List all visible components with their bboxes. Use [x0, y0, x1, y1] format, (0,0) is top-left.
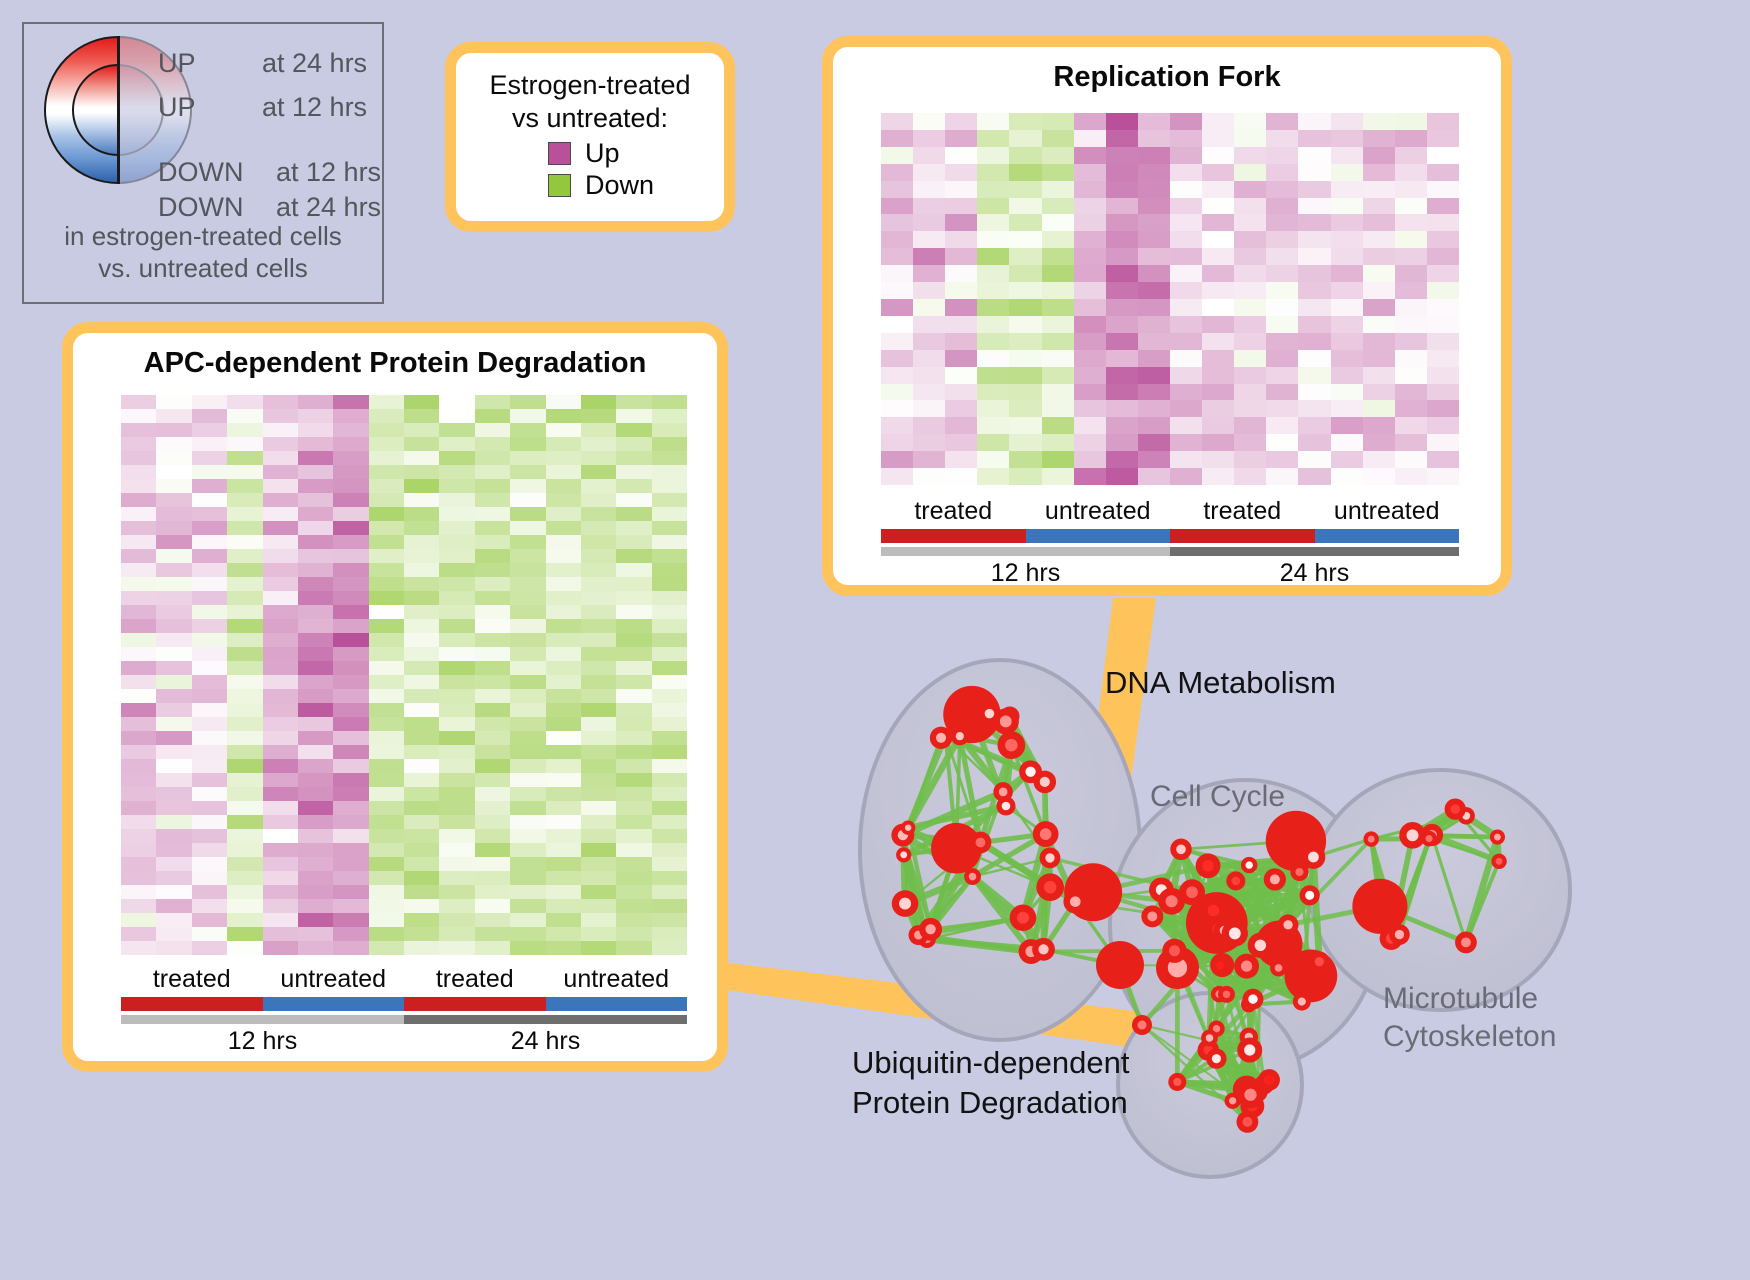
- heatmap-cell: [581, 675, 616, 689]
- heatmap-cell: [439, 423, 474, 437]
- network-node[interactable]: [1290, 863, 1308, 881]
- heatmap-cell: [1202, 400, 1234, 417]
- node-inner-core: [1245, 861, 1252, 868]
- network-node[interactable]: [1278, 914, 1299, 935]
- heatmap-cell: [1074, 164, 1106, 181]
- heatmap-cell: [1074, 434, 1106, 451]
- network-node[interactable]: [1132, 1015, 1152, 1035]
- condition-bar-0: [881, 529, 1026, 543]
- heatmap-cell: [1074, 181, 1106, 198]
- heatmap-cell: [652, 843, 687, 857]
- heatmap-cell: [1395, 316, 1427, 333]
- heatmap-cell: [945, 130, 977, 147]
- heatmap-cell: [192, 437, 227, 451]
- heatmap-cell: [1395, 147, 1427, 164]
- heatmap-cell: [263, 605, 298, 619]
- network-node[interactable]: [1445, 798, 1466, 819]
- network-node[interactable]: [1158, 888, 1185, 915]
- heatmap-cell: [1395, 282, 1427, 299]
- heatmap-cell: [546, 493, 581, 507]
- heatmap-cell: [298, 689, 333, 703]
- heatmap-cell: [1427, 333, 1459, 350]
- heatmap-cell: [121, 549, 156, 563]
- network-node[interactable]: [1218, 986, 1235, 1003]
- heatmap-cell: [1042, 468, 1074, 485]
- node-inner-core: [1044, 881, 1056, 893]
- node-inner-core: [1305, 891, 1314, 900]
- cluster-microtubule: [1310, 770, 1570, 1010]
- node-inner-core: [1166, 895, 1178, 907]
- heatmap-cell: [475, 437, 510, 451]
- heatmap-cell: [263, 759, 298, 773]
- heatmap-cell: [439, 395, 474, 409]
- condition-bar-2: [404, 997, 546, 1011]
- heatmap-cell: [1266, 350, 1298, 367]
- heatmap-cell: [1331, 113, 1363, 130]
- heatmap-cell: [546, 633, 581, 647]
- heatmap-cell: [1363, 333, 1395, 350]
- heatmap-cell: [1202, 130, 1234, 147]
- heatmap-cell: [977, 434, 1009, 451]
- heatmap-cell: [475, 857, 510, 871]
- heatmap-cell: [1202, 214, 1234, 231]
- heatmap-cell: [913, 451, 945, 468]
- heatmap-cell: [227, 479, 262, 493]
- heatmap-cell: [263, 689, 298, 703]
- heatmap-cell: [1298, 248, 1330, 265]
- heatmap-cell: [977, 248, 1009, 265]
- heatmap-cell: [581, 661, 616, 675]
- heatmap-cell: [652, 465, 687, 479]
- network-node[interactable]: [1010, 904, 1037, 931]
- heatmap-cell: [881, 417, 913, 434]
- network-node[interactable]: [1264, 868, 1286, 890]
- heatmap-cell: [1170, 265, 1202, 282]
- heatmap-cell: [510, 787, 545, 801]
- network-node[interactable]: [1201, 1030, 1218, 1047]
- network-node[interactable]: [1206, 1048, 1226, 1068]
- heatmap-cell: [475, 731, 510, 745]
- heatmap-cell: [1170, 434, 1202, 451]
- heatmap-cell: [1042, 417, 1074, 434]
- heatmap-cell: [546, 899, 581, 913]
- heatmap-cell: [1234, 113, 1266, 130]
- heatmap-cell: [1106, 198, 1138, 215]
- heatmap-cell: [652, 787, 687, 801]
- heatmap-cell: [1395, 130, 1427, 147]
- node-inner-core: [1002, 802, 1011, 811]
- heatmap-cell: [192, 675, 227, 689]
- time-bar-1: [1170, 547, 1459, 556]
- network-node[interactable]: [1389, 924, 1410, 945]
- network-node[interactable]: [1200, 897, 1226, 923]
- heatmap-cell: [616, 843, 651, 857]
- heatmap-cell: [881, 282, 913, 299]
- heatmap-cell: [439, 409, 474, 423]
- heatmap-cell: [1074, 231, 1106, 248]
- node-inner-core: [1217, 962, 1225, 970]
- heatmap-cell: [1266, 282, 1298, 299]
- network-node[interactable]: [1270, 959, 1287, 976]
- heatmap-cell: [263, 773, 298, 787]
- heatmap-cell: [369, 437, 404, 451]
- heatmap-cell: [510, 745, 545, 759]
- heatmap-cell: [1331, 367, 1363, 384]
- heatmap-cell: [298, 745, 333, 759]
- heatmap-cell: [404, 437, 439, 451]
- heatmap-cell: [581, 423, 616, 437]
- heatmap-cell: [475, 409, 510, 423]
- heatmap-cell: [1298, 434, 1330, 451]
- heatmap-cell: [439, 885, 474, 899]
- heatmap-cell: [298, 437, 333, 451]
- network-node[interactable]: [1258, 1069, 1280, 1091]
- network-node[interactable]: [970, 832, 992, 854]
- heatmap-cell: [881, 400, 913, 417]
- network-node[interactable]: [1212, 957, 1229, 974]
- heatmap-cell: [192, 787, 227, 801]
- network-node[interactable]: [1293, 993, 1311, 1011]
- heatmap-cell: [616, 689, 651, 703]
- heatmap-cell: [510, 801, 545, 815]
- network-node[interactable]: [1241, 857, 1257, 873]
- heatmap-cell: [616, 535, 651, 549]
- heatmap-cell: [616, 857, 651, 871]
- heatmap-cell: [1298, 147, 1330, 164]
- heatmap-cell: [156, 801, 191, 815]
- heatmap-cell: [192, 563, 227, 577]
- network-node[interactable]: [1490, 829, 1505, 844]
- heatmap-cell: [369, 675, 404, 689]
- network-node[interactable]: [1300, 885, 1320, 905]
- heatmap-cell: [263, 815, 298, 829]
- heatmap-cell: [652, 703, 687, 717]
- network-node[interactable]: [1236, 1111, 1258, 1133]
- heatmap-cell: [404, 549, 439, 563]
- heatmap-cell: [475, 479, 510, 493]
- heatmap-cell: [581, 507, 616, 521]
- heatmap-cell: [121, 773, 156, 787]
- heatmap-cell: [581, 829, 616, 843]
- heatmap-cell: [475, 899, 510, 913]
- heatmap-cell: [475, 423, 510, 437]
- heatmap-cell: [1170, 282, 1202, 299]
- heatmap-cell: [298, 395, 333, 409]
- heatmap-cell: [298, 885, 333, 899]
- axis-replication-fork: treateduntreatedtreateduntreated12 hrs24…: [881, 495, 1459, 585]
- network-node[interactable]: [1222, 920, 1248, 946]
- heatmap-cell: [581, 773, 616, 787]
- heatmap-cell: [1202, 384, 1234, 401]
- heatmap-cell: [192, 535, 227, 549]
- network-node[interactable]: [1243, 989, 1264, 1010]
- heatmap-cell: [1266, 198, 1298, 215]
- node-outer-ring: [1096, 941, 1144, 989]
- heatmap-cell: [616, 661, 651, 675]
- network-node[interactable]: [1234, 954, 1259, 979]
- network-node[interactable]: [1226, 871, 1245, 890]
- node-inner-core: [1169, 945, 1180, 956]
- node-inner-core: [1040, 828, 1052, 840]
- heatmap-cell: [227, 689, 262, 703]
- heatmap-cell: [227, 395, 262, 409]
- network-node[interactable]: [1096, 941, 1144, 989]
- heatmap-cell: [227, 829, 262, 843]
- heatmap-cell: [1009, 468, 1041, 485]
- heatmap-cell: [1395, 265, 1427, 282]
- heatmap-cell: [227, 815, 262, 829]
- network-node[interactable]: [919, 918, 942, 941]
- heatmap-cell: [1298, 181, 1330, 198]
- node-legend-footer-line1: in estrogen-treated cells: [24, 220, 382, 252]
- heatmap-cell: [298, 941, 333, 955]
- network-node[interactable]: [901, 821, 915, 835]
- heatmap-cell: [510, 605, 545, 619]
- network-node[interactable]: [1036, 873, 1064, 901]
- heatmap-cell: [1427, 181, 1459, 198]
- node-inner-core: [1244, 1044, 1255, 1055]
- network-node[interactable]: [1019, 760, 1042, 783]
- heatmap-cell: [439, 591, 474, 605]
- network-node[interactable]: [1237, 1038, 1262, 1063]
- heatmap-cell: [1009, 214, 1041, 231]
- heatmap-cell: [439, 521, 474, 535]
- heatmap-cell: [1395, 333, 1427, 350]
- heatmap-cell: [945, 417, 977, 434]
- heatmap-cell: [510, 577, 545, 591]
- condition-color-bar: [881, 529, 1459, 543]
- heatmap-cell: [227, 451, 262, 465]
- heatmap-cell: [369, 563, 404, 577]
- heatmap-cell: [616, 913, 651, 927]
- heatmap-cell: [298, 549, 333, 563]
- heatmap-cell: [121, 395, 156, 409]
- heatmap-cell: [475, 815, 510, 829]
- heatmap-cell: [227, 647, 262, 661]
- heatmap-cell: [546, 703, 581, 717]
- heatmap-cell: [652, 759, 687, 773]
- legend-time-0: at 24 hrs: [262, 48, 367, 79]
- heatmap-cell: [616, 815, 651, 829]
- heatmap-cell: [913, 130, 945, 147]
- heatmap-cell: [333, 605, 368, 619]
- condition-label-3: untreated: [1315, 497, 1460, 526]
- heatmap-cell: [510, 633, 545, 647]
- heatmap-cell: [192, 507, 227, 521]
- node-inner-core: [999, 787, 1008, 796]
- heatmap-cell: [1234, 417, 1266, 434]
- heatmap-cell: [1074, 147, 1106, 164]
- heatmap-cell: [1106, 113, 1138, 130]
- heatmap-cell: [404, 927, 439, 941]
- heatmap-cell: [192, 815, 227, 829]
- node-legend-footer-line2: vs. untreated cells: [24, 252, 382, 284]
- heatmap-cell: [404, 689, 439, 703]
- heatmap-cell: [156, 675, 191, 689]
- network-node[interactable]: [1032, 938, 1055, 961]
- heatmap-cell: [546, 857, 581, 871]
- network-node[interactable]: [997, 731, 1025, 759]
- network-node[interactable]: [1033, 821, 1059, 847]
- heatmap-cell: [616, 521, 651, 535]
- time-color-bar: [881, 547, 1459, 556]
- legend-item-up: Up: [548, 139, 724, 167]
- network-node[interactable]: [993, 708, 1019, 734]
- heatmap-cell: [298, 591, 333, 605]
- heatmap-cell: [192, 661, 227, 675]
- node-inner-core: [1202, 860, 1213, 871]
- heatmap-cell: [369, 619, 404, 633]
- heatmap-cell: [945, 434, 977, 451]
- heatmap-cell: [227, 493, 262, 507]
- heatmap-cell: [369, 493, 404, 507]
- heatmap-cell: [510, 549, 545, 563]
- heatmap-cell: [1298, 198, 1330, 215]
- heatmap-cell: [227, 661, 262, 675]
- heatmap-cell: [546, 815, 581, 829]
- heatmap-cell: [1427, 468, 1459, 485]
- network-node[interactable]: [993, 782, 1012, 801]
- heatmap-cell: [121, 535, 156, 549]
- network-node[interactable]: [964, 868, 981, 885]
- network-node[interactable]: [1170, 839, 1191, 860]
- heatmap-cell: [192, 829, 227, 843]
- heatmap-cell: [333, 745, 368, 759]
- heatmap-cell: [156, 941, 191, 955]
- heatmap-cell: [546, 647, 581, 661]
- heatmap-cell: [298, 535, 333, 549]
- heatmap-cell: [121, 913, 156, 927]
- heatmap-cell: [1363, 130, 1395, 147]
- heatmap-cell: [652, 605, 687, 619]
- heatmap-cell: [298, 801, 333, 815]
- heatmap-cell: [227, 731, 262, 745]
- condition-bar-3: [1315, 529, 1460, 543]
- heatmap-cell: [1074, 248, 1106, 265]
- heatmap-cell: [1298, 384, 1330, 401]
- network-node[interactable]: [1491, 854, 1506, 869]
- heatmap-cell: [156, 605, 191, 619]
- heatmap-cell: [156, 661, 191, 675]
- heatmap-cell: [404, 633, 439, 647]
- network-node[interactable]: [1421, 831, 1437, 847]
- heatmap-cell: [546, 745, 581, 759]
- heatmap-cell: [298, 605, 333, 619]
- heatmap-cell: [404, 521, 439, 535]
- network-node[interactable]: [930, 727, 952, 749]
- heatmap-cell: [404, 535, 439, 549]
- heatmap-cell: [510, 409, 545, 423]
- heatmap-cell: [510, 395, 545, 409]
- heatmap-cell: [1042, 434, 1074, 451]
- heatmap-cell: [333, 591, 368, 605]
- heatmap-cell: [333, 885, 368, 899]
- heatmap-cell: [1427, 147, 1459, 164]
- heatmap-cell: [263, 871, 298, 885]
- heatmap-cell: [333, 493, 368, 507]
- network-node[interactable]: [1141, 905, 1163, 927]
- network-node[interactable]: [1040, 847, 1061, 868]
- node-inner-core: [905, 824, 911, 830]
- network-node[interactable]: [1309, 951, 1329, 971]
- heatmap-cell: [475, 843, 510, 857]
- network-node[interactable]: [892, 890, 919, 917]
- heatmap-cell: [510, 899, 545, 913]
- heatmap-cell: [439, 941, 474, 955]
- node-inner-core: [1244, 1089, 1256, 1101]
- heatmap-cell: [156, 773, 191, 787]
- heatmap-cell: [652, 409, 687, 423]
- heatmap-cell: [1363, 350, 1395, 367]
- heatmap-cell: [1170, 417, 1202, 434]
- heatmap-cell: [439, 605, 474, 619]
- heatmap-cell: [475, 801, 510, 815]
- network-node[interactable]: [1063, 890, 1087, 914]
- heatmap-cell: [1170, 248, 1202, 265]
- heatmap-cell: [1427, 384, 1459, 401]
- heatmap-cell: [581, 745, 616, 759]
- heatmap-cell: [1266, 231, 1298, 248]
- heatmap-cell: [1170, 350, 1202, 367]
- time-label-0: 12 hrs: [881, 559, 1170, 588]
- network-node[interactable]: [1248, 933, 1273, 958]
- heatmap-cell: [263, 941, 298, 955]
- heatmap-cell: [652, 717, 687, 731]
- heatmap-cell: [652, 521, 687, 535]
- heatmap-cell: [1009, 282, 1041, 299]
- condition-labels: treateduntreatedtreateduntreated: [121, 965, 687, 994]
- heatmap-cell: [298, 927, 333, 941]
- network-node[interactable]: [1168, 1073, 1186, 1091]
- heatmap-cell: [945, 400, 977, 417]
- heatmap-cell: [546, 773, 581, 787]
- heatmap-cell: [156, 563, 191, 577]
- heatmap-cell: [156, 493, 191, 507]
- heatmap-cell: [1363, 164, 1395, 181]
- network-node[interactable]: [1455, 932, 1477, 954]
- heatmap-cell: [369, 451, 404, 465]
- heatmap-cell: [510, 689, 545, 703]
- heatmap-cell: [1298, 231, 1330, 248]
- network-node[interactable]: [951, 727, 969, 745]
- heatmap-cell: [1331, 434, 1363, 451]
- heatmap-cell: [945, 231, 977, 248]
- heatmap-cell: [475, 577, 510, 591]
- heatmap-cell: [263, 661, 298, 675]
- heatmap-cell: [652, 927, 687, 941]
- network-node[interactable]: [1162, 939, 1186, 963]
- node-inner-core: [900, 851, 907, 858]
- heatmap-cell: [1009, 400, 1041, 417]
- heatmap-cell: [227, 409, 262, 423]
- heatmap-cell: [616, 591, 651, 605]
- network-node[interactable]: [1364, 831, 1379, 846]
- heatmap-cell: [192, 773, 227, 787]
- node-inner-core: [1255, 940, 1266, 951]
- heatmap-cell: [298, 871, 333, 885]
- heatmap-legend-title: Estrogen-treated vs untreated:: [456, 69, 724, 135]
- heatmap-cell: [404, 423, 439, 437]
- network-node[interactable]: [1196, 853, 1221, 878]
- heatmap-cell: [616, 773, 651, 787]
- heatmap-cell: [1266, 400, 1298, 417]
- network-node[interactable]: [896, 847, 911, 862]
- heatmap-cell: [546, 731, 581, 745]
- heatmap-cell: [1331, 248, 1363, 265]
- heatmap-cell: [1427, 198, 1459, 215]
- heatmap-cell: [913, 400, 945, 417]
- heatmap-cell: [298, 899, 333, 913]
